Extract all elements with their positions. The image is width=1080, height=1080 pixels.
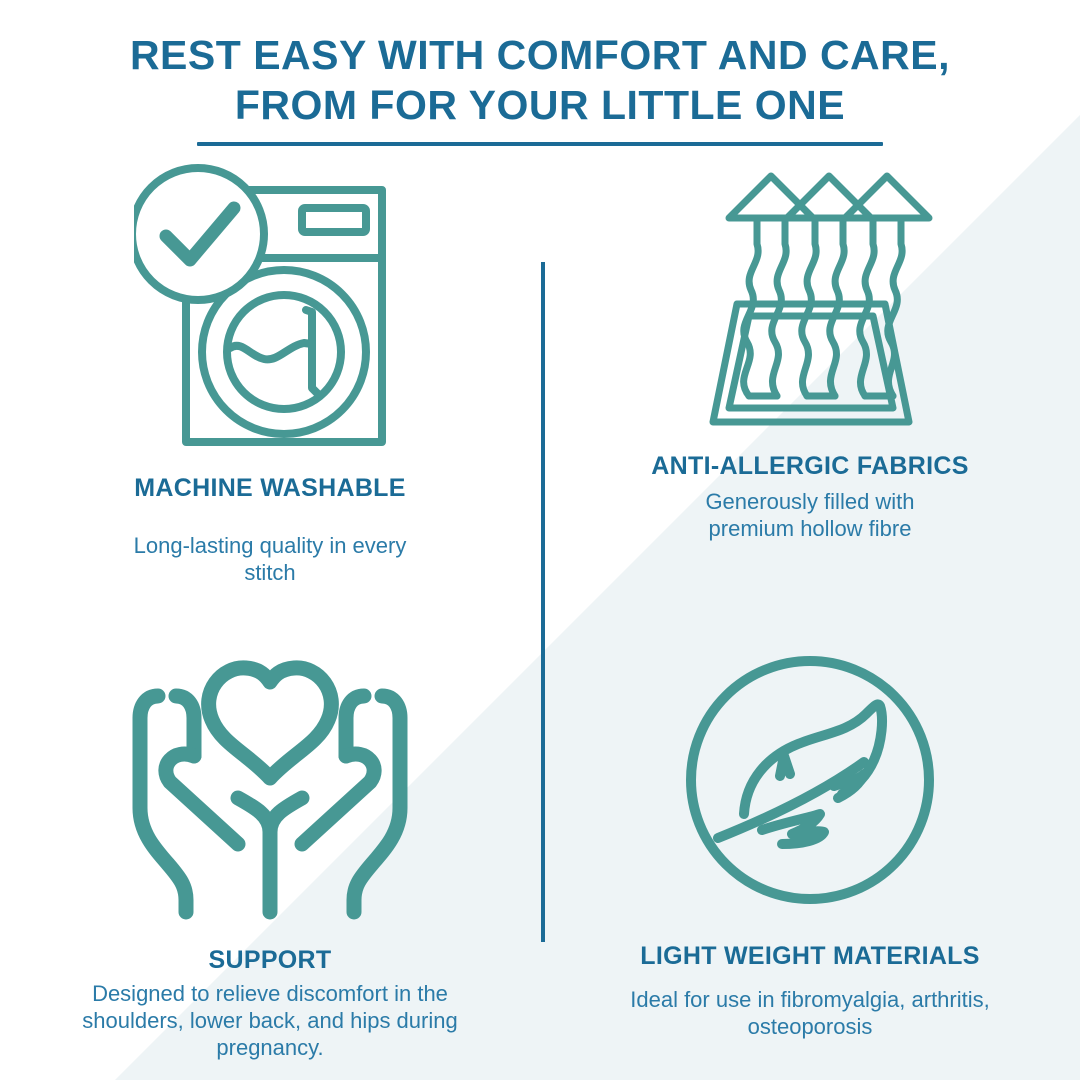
title-underline-rule xyxy=(197,142,883,146)
icon-container xyxy=(134,160,406,450)
feature-description: Designed to relieve discomfort in the sh… xyxy=(80,980,460,1061)
washing-machine-check-icon xyxy=(134,160,406,450)
icon-container xyxy=(681,160,939,438)
page-title-line-1: REST EASY WITH COMFORT AND CARE, xyxy=(130,32,950,78)
hands-holding-heart-icon xyxy=(130,648,410,920)
page-title-line-2: FROM FOR YOUR LITTLE ONE xyxy=(235,82,845,128)
breathable-fabric-arrows-icon xyxy=(681,170,939,438)
feature-grid: MACHINE WASHABLE Long-lasting quality in… xyxy=(0,160,1080,1080)
feather-in-circle-icon xyxy=(682,652,938,908)
icon-container xyxy=(682,630,938,908)
feature-card-support: SUPPORT Designed to relieve discomfort i… xyxy=(0,630,540,1080)
header: REST EASY WITH COMFORT AND CARE, FROM FO… xyxy=(0,30,1080,146)
feature-description: Ideal for use in fibromyalgia, arthritis… xyxy=(630,986,990,1040)
feature-title: MACHINE WASHABLE xyxy=(134,474,405,502)
feature-card-light-weight-materials: LIGHT WEIGHT MATERIALS Ideal for use in … xyxy=(540,630,1080,1080)
page-title: REST EASY WITH COMFORT AND CARE, FROM FO… xyxy=(0,30,1080,130)
icon-container xyxy=(130,630,410,920)
feature-title: ANTI-ALLERGIC FABRICS xyxy=(651,452,968,480)
feature-title: SUPPORT xyxy=(209,946,332,974)
infographic-page: REST EASY WITH COMFORT AND CARE, FROM FO… xyxy=(0,0,1080,1080)
feature-title: LIGHT WEIGHT MATERIALS xyxy=(640,942,979,970)
feature-description: Long-lasting quality in every stitch xyxy=(105,532,435,586)
feature-description: Generously filled with premium hollow fi… xyxy=(660,488,960,542)
feature-card-machine-washable: MACHINE WASHABLE Long-lasting quality in… xyxy=(0,160,540,630)
feature-card-anti-allergic-fabrics: ANTI-ALLERGIC FABRICS Generously filled … xyxy=(540,160,1080,630)
